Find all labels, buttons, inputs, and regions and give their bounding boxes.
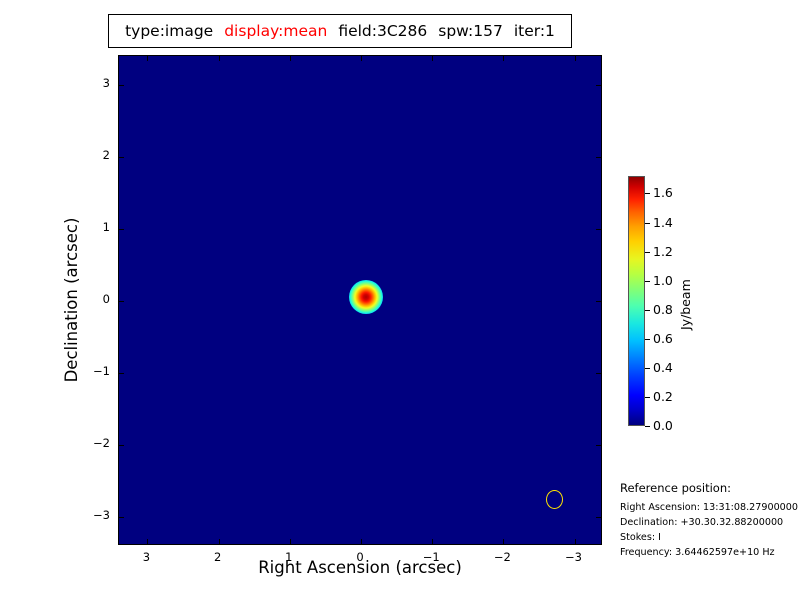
- colorbar-tick-mark: [645, 397, 650, 398]
- info-right-ascension: Right Ascension: 13:31:08.27900000: [620, 500, 800, 515]
- x-tick-mark: [575, 539, 576, 544]
- colorbar-tick-label: 0.8: [653, 302, 673, 317]
- x-tick-mark: [575, 56, 576, 61]
- x-tick-mark: [432, 539, 433, 544]
- y-tick-mark: [596, 373, 601, 374]
- x-tick-mark: [432, 56, 433, 61]
- title-segment-iter: iter:1: [514, 22, 555, 40]
- colorbar-tick-label: 0.0: [653, 418, 673, 433]
- radio-source-3c286: [349, 280, 383, 314]
- colorbar-tick-label: 0.2: [653, 389, 673, 404]
- x-tick-mark: [147, 539, 148, 544]
- colorbar-tick-label: 1.4: [653, 215, 673, 230]
- y-tick-label: 1: [70, 220, 110, 234]
- colorbar-tick-mark: [645, 252, 650, 253]
- y-tick-mark: [119, 373, 124, 374]
- reference-position-block: Reference position: Right Ascension: 13:…: [620, 481, 800, 560]
- title-segment-display: display:mean: [224, 22, 327, 40]
- colorbar-tick-label: 0.6: [653, 331, 673, 346]
- x-tick-mark: [361, 56, 362, 61]
- colorbar-tick-label: 0.4: [653, 360, 673, 375]
- y-tick-mark: [119, 445, 124, 446]
- colorbar-gradient: [628, 176, 645, 426]
- y-tick-mark: [119, 157, 124, 158]
- x-tick-mark: [503, 56, 504, 61]
- y-tick-mark: [596, 85, 601, 86]
- y-tick-mark: [119, 517, 124, 518]
- info-declination: Declination: +30.30.32.88200000: [620, 515, 800, 530]
- x-tick-label: −2: [482, 550, 522, 564]
- y-tick-label: −3: [70, 508, 110, 522]
- colorbar-tick-mark: [645, 223, 650, 224]
- plot-title-bar: type:image display:mean field:3C286 spw:…: [108, 14, 572, 48]
- title-segment-type: type:image: [125, 22, 213, 40]
- x-tick-label: −3: [554, 550, 594, 564]
- restoring-beam-ellipse: [546, 490, 563, 509]
- x-tick-mark: [290, 56, 291, 61]
- x-tick-label: 0: [340, 550, 380, 564]
- x-tick-mark: [503, 539, 504, 544]
- title-segment-spw: spw:157: [438, 22, 503, 40]
- image-plot-area[interactable]: [118, 55, 602, 545]
- colorbar-tick-mark: [645, 281, 650, 282]
- title-segment-field: field:3C286: [338, 22, 427, 40]
- reference-position-heading: Reference position:: [620, 481, 800, 495]
- y-tick-mark: [596, 517, 601, 518]
- x-tick-mark: [147, 56, 148, 61]
- colorbar-tick-label: 1.2: [653, 244, 673, 259]
- colorbar-unit-label: Jy/beam: [678, 279, 693, 330]
- y-tick-mark: [119, 85, 124, 86]
- info-stokes: Stokes: I: [620, 530, 800, 545]
- info-frequency: Frequency: 3.64462597e+10 Hz: [620, 545, 800, 560]
- colorbar[interactable]: 0.00.20.40.60.81.01.21.41.6: [628, 176, 645, 426]
- x-tick-label: 3: [126, 550, 166, 564]
- y-tick-label: 0: [70, 292, 110, 306]
- x-tick-mark: [219, 539, 220, 544]
- y-tick-mark: [596, 301, 601, 302]
- y-tick-mark: [119, 229, 124, 230]
- colorbar-tick-mark: [645, 368, 650, 369]
- x-tick-label: −1: [411, 550, 451, 564]
- y-tick-label: −2: [70, 436, 110, 450]
- y-tick-mark: [596, 229, 601, 230]
- colorbar-tick-mark: [645, 339, 650, 340]
- x-tick-mark: [290, 539, 291, 544]
- y-tick-mark: [596, 445, 601, 446]
- x-tick-label: 2: [198, 550, 238, 564]
- colorbar-tick-mark: [645, 310, 650, 311]
- colorbar-tick-mark: [645, 426, 650, 427]
- y-tick-mark: [596, 157, 601, 158]
- x-tick-mark: [219, 56, 220, 61]
- colorbar-tick-mark: [645, 193, 650, 194]
- y-tick-label: −1: [70, 364, 110, 378]
- colorbar-tick-label: 1.6: [653, 185, 673, 200]
- x-tick-label: 1: [269, 550, 309, 564]
- x-tick-mark: [361, 539, 362, 544]
- y-tick-label: 3: [70, 76, 110, 90]
- y-tick-label: 2: [70, 148, 110, 162]
- colorbar-tick-label: 1.0: [653, 273, 673, 288]
- y-tick-mark: [119, 301, 124, 302]
